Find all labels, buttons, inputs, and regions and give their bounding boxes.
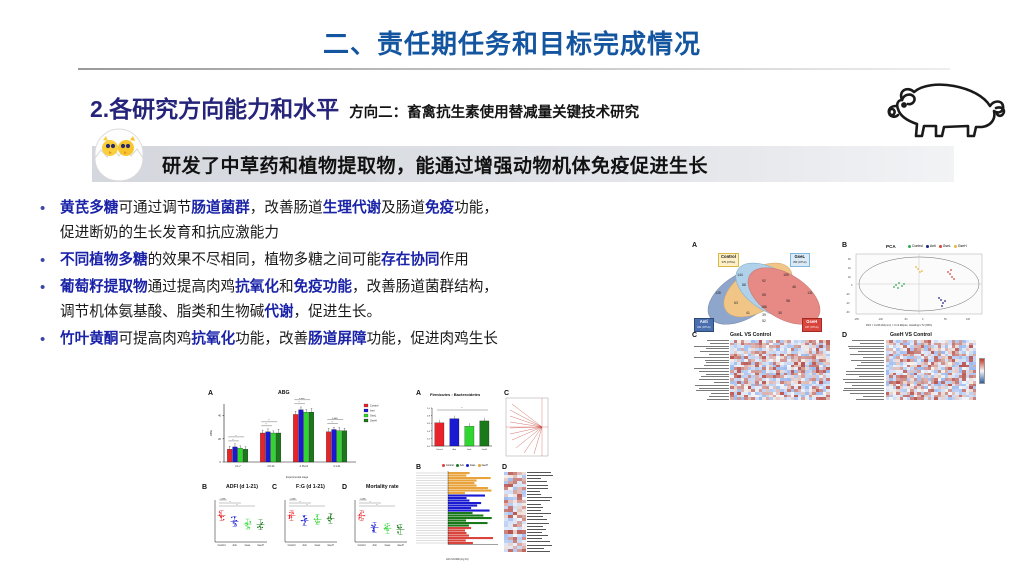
svg-text:41: 41 — [746, 311, 750, 315]
bullet-text-2: 葡萄籽提取物通过提高肉鸡抗氧化和免疫功能，改善肠道菌群结构， 调节机体氨基酸、脂… — [60, 275, 690, 325]
bullet-text-0: 黄芪多糖可通过调节肠道菌群，改善肠道生理代谢及肠道免疫功能， 促进断奶的生长发育… — [60, 196, 690, 246]
svg-text:0.8: 0.8 — [427, 416, 431, 418]
svg-text:GseH: GseH — [397, 544, 403, 547]
heatmap-row-label — [699, 379, 729, 380]
svg-text:0: 0 — [922, 318, 924, 321]
heatmap-c-rowlabels — [692, 340, 729, 400]
pca-scatter: 604020 0-20-40-60 -150-100-50 050100 — [846, 252, 986, 328]
ratio-bar-title: Firmicutes : Bacteroidetes — [430, 392, 480, 397]
heatmap-row-label — [700, 351, 729, 352]
heatmap-row-label — [527, 494, 541, 495]
svg-text:40: 40 — [848, 267, 851, 270]
heatmap-cell — [973, 397, 976, 400]
bullet-marker: • — [40, 275, 60, 325]
svg-text:0.0: 0.0 — [427, 446, 431, 448]
pca-legend: Control Anti GseL GseH — [908, 244, 967, 248]
svg-text:52: 52 — [762, 319, 766, 323]
heatmap-row-label — [527, 485, 548, 486]
heatmap-row-label — [527, 535, 548, 536]
heatmap-row-label — [856, 399, 884, 400]
heatmap-row-label — [527, 491, 540, 492]
svg-text:144: 144 — [737, 273, 743, 277]
venn-label-control: Control 375 (OTUs) — [718, 253, 739, 267]
heatmap-row-label — [527, 497, 552, 498]
panel-letter-c: C — [272, 484, 277, 491]
svg-text:d 15-21: d 15-21 — [300, 465, 309, 468]
heatmap-row-label — [846, 371, 884, 372]
figure-growth-performance: A ABG 02040ABGd 1-7****d 8-14****d 15-21… — [200, 388, 412, 566]
heatmap-row-label — [714, 382, 729, 383]
svg-text:Anti: Anti — [372, 544, 377, 547]
svg-text:100: 100 — [966, 318, 971, 321]
panel-letter-b: B — [202, 484, 207, 491]
svg-text:0.086: 0.086 — [220, 499, 226, 501]
heatmap-row-label — [527, 475, 553, 476]
svg-text:0: 0 — [851, 284, 853, 287]
heatmap-cell — [522, 549, 526, 552]
ratio-bar-chart: 0.00.20.40.60.81.0ControlAntiGseLGseH* — [420, 400, 496, 462]
heatmap-row-label — [706, 348, 729, 349]
heatmap-row-label — [850, 393, 884, 394]
svg-text:GseL: GseL — [370, 414, 377, 418]
heatmap-row-label — [527, 532, 542, 533]
svg-text:Control: Control — [370, 404, 379, 408]
venn-label-gseh: GseH 347 (OTUs) — [802, 318, 822, 332]
svg-text:**: ** — [268, 420, 270, 422]
heatmap-row-label — [527, 523, 549, 524]
list-item: • 竹叶黄酮可提高肉鸡抗氧化功能，改善肠道屏障功能，促进肉鸡生长 — [40, 327, 690, 352]
heatmap-row-label — [707, 399, 729, 400]
heatmap-row-label — [527, 519, 547, 520]
heatmap-row-label — [846, 374, 884, 375]
heatmap-taxa — [504, 472, 526, 552]
svg-text:**: ** — [232, 439, 234, 441]
heatmap-row-label — [843, 379, 884, 380]
panel-letter-a: A — [208, 390, 213, 397]
svg-text:30: 30 — [778, 311, 782, 315]
dot-c-title: F:G (d 1-21) — [296, 484, 325, 490]
panel-letter-a: A — [692, 242, 697, 249]
list-item: • 不同植物多糖的效果不尽相同，植物多糖之间可能存在协同作用 — [40, 248, 690, 273]
svg-text:-60: -60 — [846, 311, 850, 314]
heatmap-row-label — [706, 362, 729, 363]
bar-chart-title: ABG — [278, 390, 290, 396]
svg-text:**: ** — [331, 422, 333, 424]
heatmap-row-label — [704, 365, 729, 366]
abg-bar-chart: 02040ABGd 1-7****d 8-14****d 15-21**0.06… — [206, 398, 412, 478]
svg-text:98: 98 — [786, 299, 790, 303]
svg-text:186: 186 — [761, 305, 767, 309]
svg-text:0.068: 0.068 — [299, 398, 305, 400]
heatmap-row-label — [527, 516, 543, 517]
banner-text: 研发了中草药和植物提取物，能通过增强动物机体免疫促进生长 — [162, 151, 708, 178]
heatmap-colorbar — [979, 358, 985, 384]
svg-text:0.086: 0.086 — [290, 499, 296, 501]
venn-label-gsel: GseL 353 (OTUs) — [790, 253, 810, 267]
svg-text:0.4: 0.4 — [427, 431, 431, 433]
svg-text:**: ** — [265, 424, 267, 426]
heatmap-row-label — [858, 351, 884, 352]
svg-text:GseL: GseL — [385, 544, 391, 547]
svg-text:Anti: Anti — [302, 544, 307, 547]
svg-text:-40: -40 — [846, 302, 850, 305]
heatmap-row-label — [851, 360, 884, 361]
heatmap-row-label — [527, 510, 541, 511]
heatmap-row-label — [694, 357, 729, 358]
heatmap-row-label — [694, 368, 729, 369]
svg-text:GseH: GseH — [327, 544, 333, 547]
dot-b-title: ADFI (d 1-21) — [226, 484, 258, 490]
figure-microbiome: A Firmicutes : Bacteroidetes 0.00.20.40.… — [412, 388, 552, 566]
bullet-line: 不同植物多糖的效果不尽相同，植物多糖之间可能存在协同作用 — [60, 248, 690, 273]
panel-letter-c: C — [692, 332, 697, 339]
svg-text:**: ** — [235, 435, 237, 437]
list-item: • 葡萄籽提取物通过提高肉鸡抗氧化和免疫功能，改善肠道菌群结构， 调节机体氨基酸… — [40, 275, 690, 325]
svg-text:Control: Control — [358, 544, 366, 547]
chick-icon — [88, 126, 150, 184]
bullet-marker: • — [40, 248, 60, 273]
svg-text:**: ** — [298, 402, 300, 404]
svg-text:0.2: 0.2 — [427, 438, 431, 440]
heatmap-row-label — [711, 393, 729, 394]
title-divider — [78, 68, 950, 70]
svg-text:-100: -100 — [878, 318, 883, 321]
svg-text:Control: Control — [288, 544, 296, 547]
svg-text:-50: -50 — [904, 318, 908, 321]
heatmap-row-label — [527, 526, 543, 527]
heatmap-gseh-control — [886, 340, 976, 400]
svg-text:GseL: GseL — [315, 544, 321, 547]
heatmap-row-label — [527, 541, 550, 542]
heatmap-c-title: GseL VS Control — [730, 332, 771, 338]
heatmap-row-label — [694, 346, 729, 347]
bullet-marker: • — [40, 196, 60, 246]
heatmap-row-label — [706, 374, 729, 375]
svg-text:Anti: Anti — [453, 448, 457, 451]
heatmap-row-label — [527, 513, 551, 514]
heatmap-row-label — [709, 354, 729, 355]
page-title: 二、责任期任务和目标完成情况 — [0, 24, 1024, 61]
bullet-list: • 黄芪多糖可通过调节肠道菌群，改善肠道生理代谢及肠道免疫功能， 促进断奶的生长… — [40, 196, 690, 354]
bullet-line: 竹叶黄酮可提高肉鸡抗氧化功能，改善肠道屏障功能，促进肉鸡生长 — [60, 327, 690, 352]
dot-d-title: Mortality rate — [366, 484, 399, 490]
svg-text:**: ** — [376, 505, 378, 507]
svg-text:0.068: 0.068 — [332, 418, 338, 420]
svg-text:d 1-7: d 1-7 — [235, 465, 241, 468]
heatmap-row-label — [699, 388, 730, 389]
heatmap-row-label — [710, 343, 729, 344]
bullet-line: 葡萄籽提取物通过提高肉鸡抗氧化和免疫功能，改善肠道菌群结构， — [60, 275, 690, 300]
bullet-line: 促进断奶的生长发育和抗应激能力 — [60, 221, 690, 246]
svg-text:150: 150 — [783, 273, 789, 277]
heatmap-d-rowlabels — [840, 340, 884, 400]
panel-letter-b: B — [842, 242, 847, 249]
heatmap-row-label — [701, 376, 729, 377]
dotplot-adfi: ControlAntiGseLGseH0.086**** — [204, 492, 270, 558]
highlight-banner: 研发了中草药和植物提取物，能通过增强动物机体免疫促进生长 — [92, 146, 954, 182]
heatmap-taxa-labels — [527, 472, 553, 552]
panel-letter-d2: D — [502, 464, 507, 471]
svg-text:46: 46 — [792, 285, 796, 289]
heatmap-row-label — [861, 362, 884, 363]
pig-icon — [884, 76, 1012, 138]
svg-text:**: ** — [306, 505, 308, 507]
heatmap-row-label — [844, 388, 884, 389]
direction-label: 方向二：畜禽抗生素使用替减量关键技术研究 — [349, 101, 639, 122]
svg-text:131: 131 — [807, 291, 813, 295]
svg-text:128: 128 — [715, 291, 721, 295]
pca-title: PCA — [886, 244, 896, 249]
lefse-legend: Control Anti GseL GseH — [442, 464, 488, 467]
svg-text:**: ** — [236, 505, 238, 507]
svg-text:20: 20 — [848, 276, 851, 279]
svg-text:39: 39 — [762, 313, 766, 317]
svg-text:GseL: GseL — [467, 449, 473, 451]
section-header: 2.各研究方向能力和水平 方向二：畜禽抗生素使用替减量关键技术研究 — [90, 90, 639, 124]
svg-text:ABG: ABG — [209, 430, 213, 436]
svg-text:GseH: GseH — [370, 419, 377, 423]
svg-text:GseH: GseH — [257, 544, 263, 547]
svg-text:GseH: GseH — [482, 449, 488, 451]
section-number: 2.各研究方向能力和水平 — [90, 90, 339, 124]
heatmap-row-label — [527, 538, 542, 539]
heatmap-row-label — [849, 348, 884, 349]
heatmap-row-label — [527, 488, 548, 489]
svg-text:20: 20 — [218, 437, 221, 441]
pca-xlabel: R2X = 0.226 R2(cum) = 0.13 Ellipse: Hote… — [866, 324, 932, 327]
svg-text:1.0: 1.0 — [427, 408, 431, 410]
svg-text:Control: Control — [218, 544, 226, 547]
bar-chart-xlabel: Experimental stage — [286, 476, 308, 479]
svg-text:**: ** — [299, 502, 301, 504]
bullet-line: 黄芪多糖可通过调节肠道菌群，改善肠道生理代谢及肠道免疫功能， — [60, 196, 690, 221]
lefse-xlabel: LDA SCORE (log 10) — [446, 558, 468, 561]
heatmap-cell — [826, 397, 830, 400]
bullet-line: 调节机体氨基酸、脂类和生物碱代谢，促进生长。 — [60, 300, 690, 325]
heatmap-row-label — [527, 529, 546, 530]
svg-text:*: * — [462, 407, 463, 410]
heatmap-row-label — [850, 354, 884, 355]
svg-text:50: 50 — [944, 318, 947, 321]
svg-text:-150: -150 — [854, 318, 859, 321]
venn-label-anti: Anti 341 (OTUs) — [694, 318, 714, 332]
svg-text:63: 63 — [734, 301, 738, 305]
heatmap-row-label — [852, 340, 884, 341]
heatmap-row-label — [527, 500, 550, 501]
heatmap-row-label — [860, 343, 884, 344]
list-item: • 黄芪多糖可通过调节肠道菌群，改善肠道生理代谢及肠道免疫功能， 促进断奶的生长… — [40, 196, 690, 246]
heatmap-row-label — [863, 357, 884, 358]
svg-text:Control: Control — [436, 448, 443, 451]
heatmap-gsel-control — [730, 340, 830, 400]
heatmap-row-label — [855, 368, 884, 369]
loading-plot — [504, 396, 550, 460]
svg-text:Anti: Anti — [370, 409, 375, 413]
svg-text:40: 40 — [218, 414, 221, 418]
svg-text:d 1-21: d 1-21 — [333, 465, 341, 468]
svg-text:0.6: 0.6 — [427, 423, 431, 425]
heatmap-row-label — [848, 346, 884, 347]
dotplot-fg: ControlAntiGseLGseH0.086**** — [274, 492, 340, 558]
heatmap-row-label — [863, 396, 884, 397]
heatmap-row-label — [527, 545, 552, 546]
heatmap-row-label — [709, 396, 729, 397]
heatmap-row-label — [527, 481, 547, 482]
heatmap-row-label — [859, 376, 884, 377]
heatmap-row-label — [705, 360, 729, 361]
dotplot-mortality: ControlAntiGseLGseH0.086**** — [344, 492, 410, 558]
svg-text:88: 88 — [742, 283, 746, 287]
heatmap-row-label — [695, 385, 729, 386]
lefse-bar-chart — [414, 470, 500, 558]
bullet-marker: • — [40, 327, 60, 352]
heatmap-row-label — [857, 365, 884, 366]
heatmap-row-label — [527, 478, 541, 479]
heatmap-row-label — [527, 548, 544, 549]
svg-text:**: ** — [229, 502, 231, 504]
heatmap-d-title: GseH VS Control — [890, 332, 932, 338]
svg-text:Anti: Anti — [232, 544, 237, 547]
heatmap-row-label — [845, 382, 884, 383]
svg-text:0: 0 — [220, 460, 222, 464]
svg-text:55: 55 — [762, 293, 766, 297]
panel-letter-d: D — [842, 332, 847, 339]
heatmap-row-label — [707, 340, 729, 341]
heatmap-row-label — [527, 551, 550, 552]
heatmap-row-label — [696, 390, 729, 391]
heatmap-row-label — [527, 472, 551, 473]
svg-text:-20: -20 — [846, 293, 850, 296]
svg-text:60: 60 — [848, 258, 851, 261]
svg-text:d 8-14: d 8-14 — [267, 465, 275, 468]
bullet-text-3: 竹叶黄酮可提高肉鸡抗氧化功能，改善肠道屏障功能，促进肉鸡生长 — [60, 327, 690, 352]
heatmap-row-label — [699, 371, 729, 372]
heatmap-row-label — [527, 504, 541, 505]
svg-text:0.086: 0.086 — [360, 499, 366, 501]
heatmap-row-label — [843, 390, 884, 391]
heatmap-row-label — [852, 385, 884, 386]
svg-text:**: ** — [369, 502, 371, 504]
svg-text:92: 92 — [762, 279, 766, 283]
panel-letter-a2: A — [416, 390, 421, 397]
bullet-text-1: 不同植物多糖的效果不尽相同，植物多糖之间可能存在协同作用 — [60, 248, 690, 273]
figure-multiomics: A 128 144 150 131 88 92 46 63 55 98 186 — [690, 240, 990, 402]
heatmap-row-label — [527, 507, 543, 508]
panel-letter-d: D — [342, 484, 347, 491]
slide-root: 二、责任期任务和目标完成情况 2.各研究方向能力和水平 方向二：畜禽抗生素使用替… — [0, 0, 1024, 575]
svg-text:GseL: GseL — [245, 544, 251, 547]
